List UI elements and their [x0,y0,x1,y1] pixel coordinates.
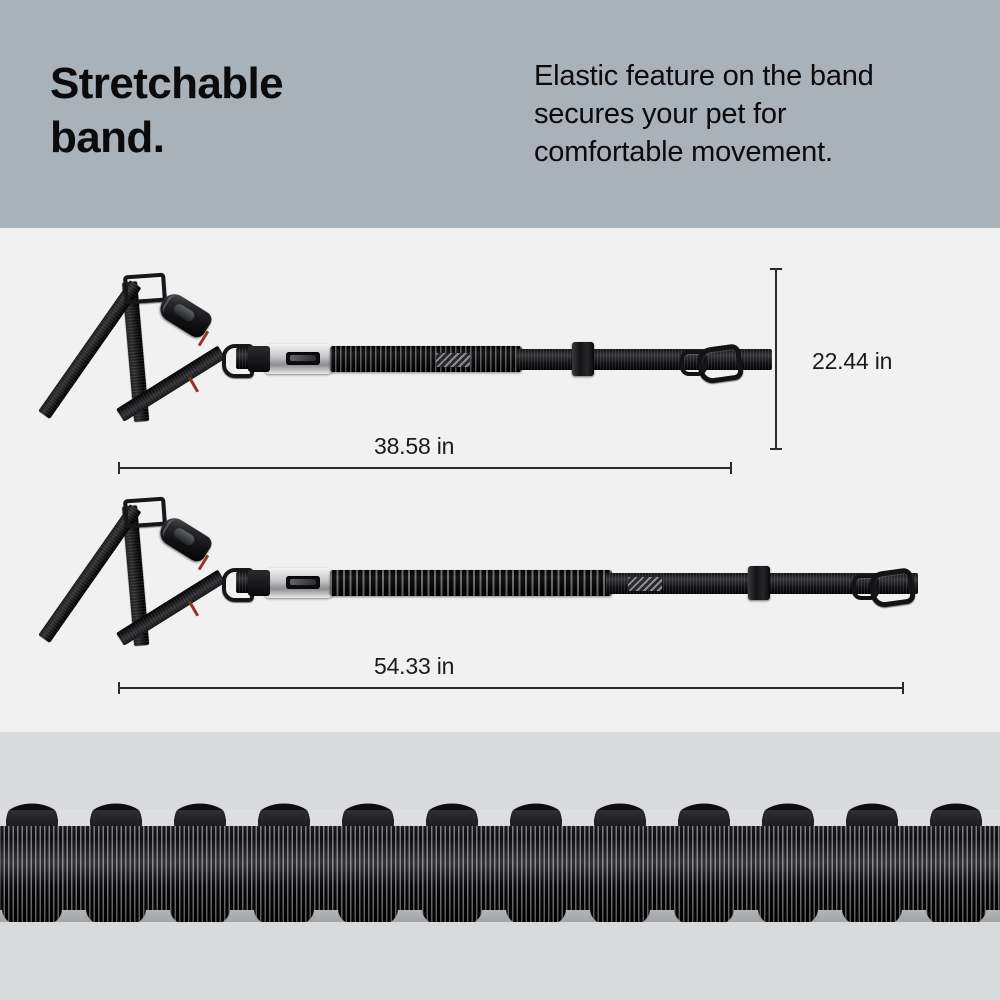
reflective-patch [436,353,470,367]
dimension-cap-right [902,682,904,694]
headline-line-2: band. [50,111,470,165]
slider-adjuster [572,342,594,376]
product-panel: 38.58 in 22.44 in [0,228,1000,732]
infographic-page: Stretchable band. Elastic feature on the… [0,0,1000,1000]
dimension-rule [775,268,777,450]
swivel-snap-hook [680,343,734,375]
tongue-base [248,346,270,372]
dimension-line-height [770,268,782,450]
dimension-label-length-stretched: 54.33 in [374,653,454,680]
seatbelt-tongue [264,568,334,598]
dimension-cap-bottom [770,448,782,450]
dimension-cap-right [730,462,732,474]
closeup-photo-panel [0,732,1000,1000]
leash-relaxed [112,268,732,448]
header-band: Stretchable band. Elastic feature on the… [0,0,1000,228]
dimension-line-length-stretched [118,682,904,694]
tongue-base [248,570,270,596]
headline-line-1: Stretchable [50,59,283,108]
leash-stretched [112,492,902,672]
bungee-band [330,570,612,596]
dimension-rule [118,687,904,689]
subcopy-line-1: Elastic feature on the band [534,58,964,96]
dimension-label-height: 22.44 in [812,348,892,375]
bungee-scallop-bottom [0,910,1000,936]
bungee-band [330,346,522,372]
swivel-snap-hook [852,567,906,599]
snap-hook-gate [868,567,917,609]
dimension-line-length-relaxed [118,462,732,474]
page-title: Stretchable band. [50,57,470,164]
slider-adjuster [748,566,770,600]
reflective-patch [628,577,662,591]
seatbelt-tongue [264,344,334,374]
bungee-band-closeup [0,810,1000,922]
header-description: Elastic feature on the band secures your… [534,58,964,172]
bungee-scallop-top [0,796,1000,822]
subcopy-line-3: comfortable movement. [534,134,964,172]
dimension-rule [118,467,732,469]
subcopy-line-2: secures your pet for [534,96,964,134]
snap-hook-gate [696,343,745,385]
tongue-slot-bar [290,355,316,361]
slider-ring [123,273,167,305]
dimension-label-length-relaxed: 38.58 in [374,433,454,460]
tongue-slot-bar [290,579,316,585]
slider-ring [123,497,167,529]
